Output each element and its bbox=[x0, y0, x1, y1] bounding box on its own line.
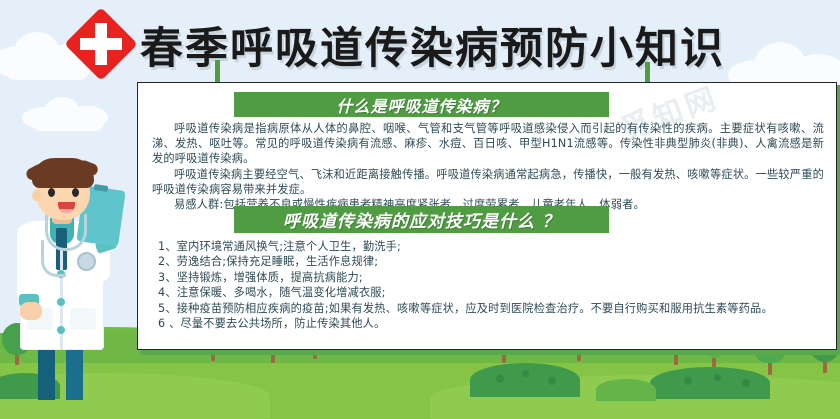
list-item: 3、坚持锻炼，增强体质，提高抗病能力; bbox=[158, 270, 818, 285]
stethoscope-chestpiece bbox=[77, 252, 96, 271]
doctor-illustration bbox=[8, 152, 143, 400]
section-1-paragraph-1: 呼吸道传染病是指病原体从人体的鼻腔、咽喉、气管和支气管等呼吸道感染侵入而引起的有… bbox=[152, 121, 824, 167]
bush bbox=[470, 363, 580, 397]
doctor-ear bbox=[32, 190, 41, 201]
bush-dot bbox=[684, 377, 692, 385]
doctor-eyebrow bbox=[70, 182, 81, 185]
doctor-coat-button bbox=[57, 326, 65, 334]
doctor-eye bbox=[48, 188, 55, 197]
cloud-left-lower bbox=[22, 95, 118, 129]
doctor-sleeve-left bbox=[17, 224, 39, 302]
stethoscope-tube bbox=[41, 240, 66, 277]
list-item: 2、劳逸结合;保持充足睡眠，生活作息规律; bbox=[158, 254, 818, 269]
poster-canvas: 春季呼吸道传染病预防小知识 觅知网 觅知网 什么是呼吸道传染病？ 呼吸道传染病是… bbox=[0, 0, 840, 419]
bush-dot bbox=[548, 377, 556, 385]
doctor-mouth-highlight bbox=[60, 209, 73, 213]
section-banner-1: 什么是呼吸道传染病？ bbox=[234, 92, 609, 117]
list-item: 4、注意保暖、多喝水，随气温变化增减衣服; bbox=[158, 285, 818, 300]
doctor-eye bbox=[72, 188, 79, 197]
list-item: 6 、尽量不要去公共场所，防止传染其他人。 bbox=[158, 316, 818, 331]
doctor-hand-left bbox=[20, 302, 42, 320]
doctor-pocket bbox=[70, 308, 96, 330]
bush-dot bbox=[742, 379, 750, 387]
bush bbox=[596, 379, 656, 401]
doctor-coat-button bbox=[57, 298, 65, 306]
section-1-paragraph-2: 呼吸道传染病主要经空气、飞沫和近距离接触传播。呼吸道传染病通常起病急，传播快，一… bbox=[152, 167, 824, 197]
list-item: 5、接种疫苗预防相应疾病的疫苗;如果有发热、咳嗽等症状，应及时到医院检查治疗。不… bbox=[158, 301, 818, 316]
bush bbox=[650, 367, 770, 399]
page-title: 春季呼吸道传染病预防小知识 bbox=[140, 14, 725, 76]
tips-list: 1、室内环境常通风换气;注意个人卫生，勤洗手; 2、劳逸结合;保持充足睡眠，生活… bbox=[158, 239, 818, 331]
section-banner-2: 呼吸道传染病的应对技巧是什么 ？ bbox=[234, 206, 609, 233]
content-board: 觅知网 觅知网 什么是呼吸道传染病？ 呼吸道传染病是指病原体从人体的鼻腔、咽喉、… bbox=[137, 82, 837, 350]
list-item: 1、室内环境常通风换气;注意个人卫生，勤洗手; bbox=[158, 239, 818, 254]
red-cross-glyph bbox=[75, 18, 127, 70]
bush-dot bbox=[522, 370, 529, 377]
title-bar: 春季呼吸道传染病预防小知识 bbox=[0, 8, 840, 70]
bush-dot bbox=[496, 375, 504, 383]
bush-dot bbox=[714, 374, 721, 381]
doctor-eyebrow bbox=[46, 182, 57, 185]
